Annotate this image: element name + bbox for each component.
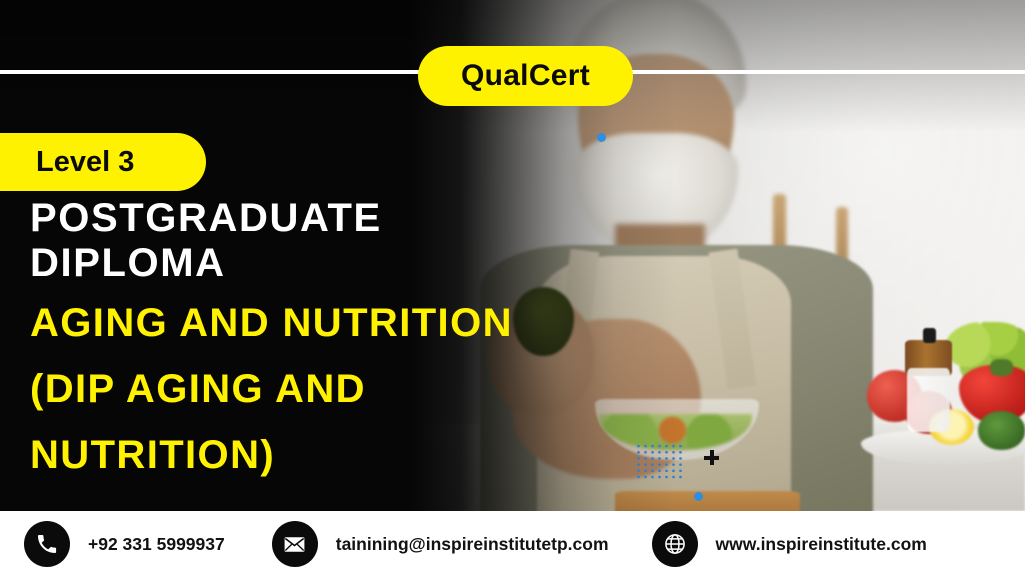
blue-marker-dot xyxy=(694,492,703,501)
qualcert-brand-badge[interactable]: QualCert xyxy=(418,46,633,106)
qualcert-label: QualCert xyxy=(461,59,590,93)
contact-phone[interactable]: +92 331 5999937 xyxy=(24,521,225,567)
contact-email[interactable]: tainining@inspireinstitutetp.com xyxy=(272,521,609,567)
email-icon xyxy=(272,521,318,567)
phone-icon xyxy=(24,521,70,567)
headline-block: POSTGRADUATE DIPLOMA AGING AND NUTRITION… xyxy=(30,196,670,484)
email-address: tainining@inspireinstitutetp.com xyxy=(336,534,609,555)
website-url: www.inspireinstitute.com xyxy=(716,534,927,555)
subject-title-line3: NUTRITION) xyxy=(30,427,670,484)
contact-website[interactable]: www.inspireinstitute.com xyxy=(652,521,927,567)
qualification-title-line2: DIPLOMA xyxy=(30,241,670,286)
globe-icon xyxy=(652,521,698,567)
course-promo-banner: QualCert Level 3 POSTGRADUATE DIPLOMA AG… xyxy=(0,0,1025,577)
subject-title-line1: AGING AND NUTRITION xyxy=(30,295,670,352)
phone-number: +92 331 5999937 xyxy=(88,534,225,555)
subject-title-line2: (DIP AGING AND xyxy=(30,361,670,418)
level-badge: Level 3 xyxy=(0,133,206,191)
blue-marker-dot xyxy=(597,133,606,142)
contact-footer-bar: +92 331 5999937 tainining@inspireinstitu… xyxy=(0,511,1025,577)
level-badge-label: Level 3 xyxy=(36,146,134,179)
qualification-title-line1: POSTGRADUATE xyxy=(30,196,670,241)
crosshair-marker xyxy=(704,450,719,465)
